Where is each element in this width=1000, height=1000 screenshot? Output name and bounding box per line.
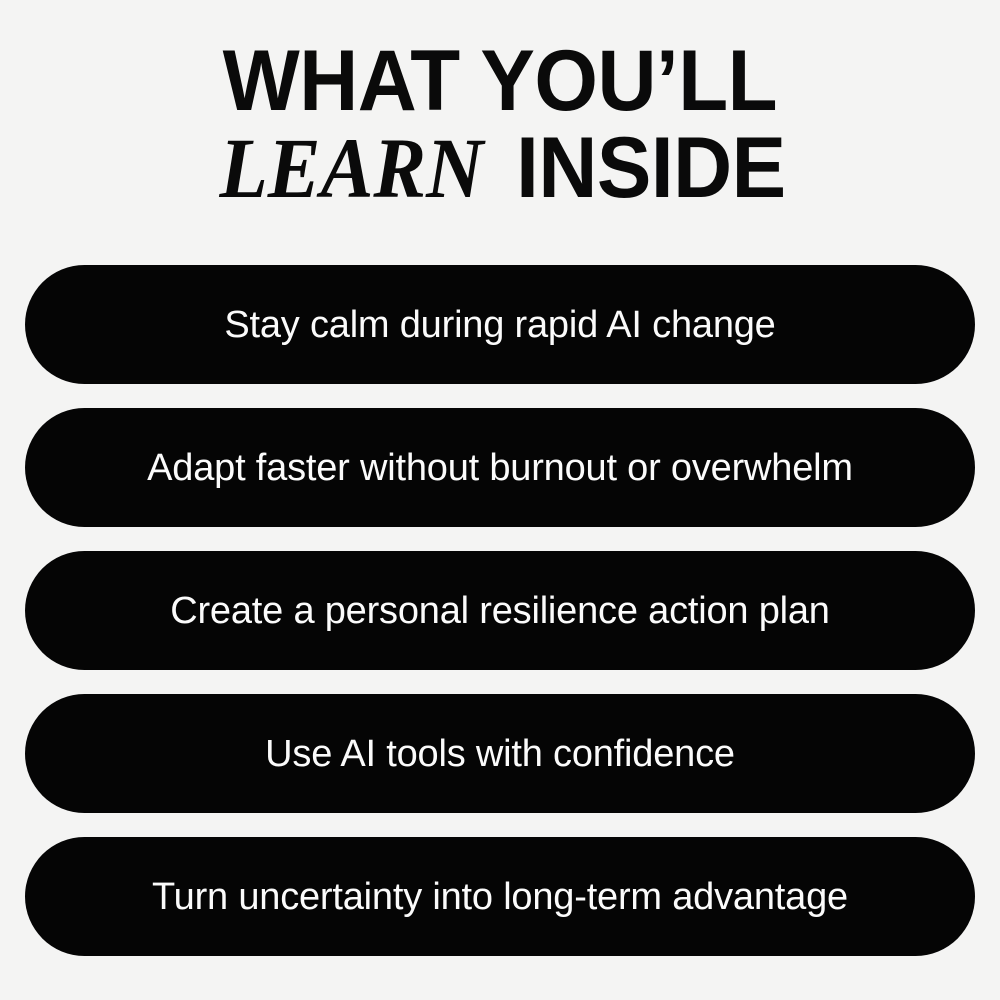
list-item-label: Adapt faster without burnout or overwhel… [147, 449, 853, 487]
title-line-1-text: WHAT YOU’LL [223, 40, 778, 123]
list-item-label: Turn uncertainty into long-term advantag… [152, 878, 848, 916]
title-line-1: WHAT YOU’LL [0, 40, 1000, 123]
list-item-label: Stay calm during rapid AI change [224, 306, 775, 344]
title-line-2-text: INSIDE [516, 127, 786, 210]
page-title: WHAT YOU’LL LEARNINSIDE [0, 40, 1000, 209]
title-line-2: LEARNINSIDE [0, 127, 1000, 210]
list-item[interactable]: Stay calm during rapid AI change [25, 265, 975, 384]
list-item-label: Use AI tools with confidence [265, 735, 735, 773]
list-item[interactable]: Create a personal resilience action plan [25, 551, 975, 670]
list-item[interactable]: Use AI tools with confidence [25, 694, 975, 813]
list-item[interactable]: Adapt faster without burnout or overwhel… [25, 408, 975, 527]
list-item-label: Create a personal resilience action plan [170, 592, 830, 630]
title-emphasis-word: LEARN [219, 127, 483, 210]
poster-canvas: WHAT YOU’LL LEARNINSIDE Stay calm during… [0, 0, 1000, 1000]
list-item[interactable]: Turn uncertainty into long-term advantag… [25, 837, 975, 956]
benefits-list: Stay calm during rapid AI change Adapt f… [25, 265, 975, 956]
